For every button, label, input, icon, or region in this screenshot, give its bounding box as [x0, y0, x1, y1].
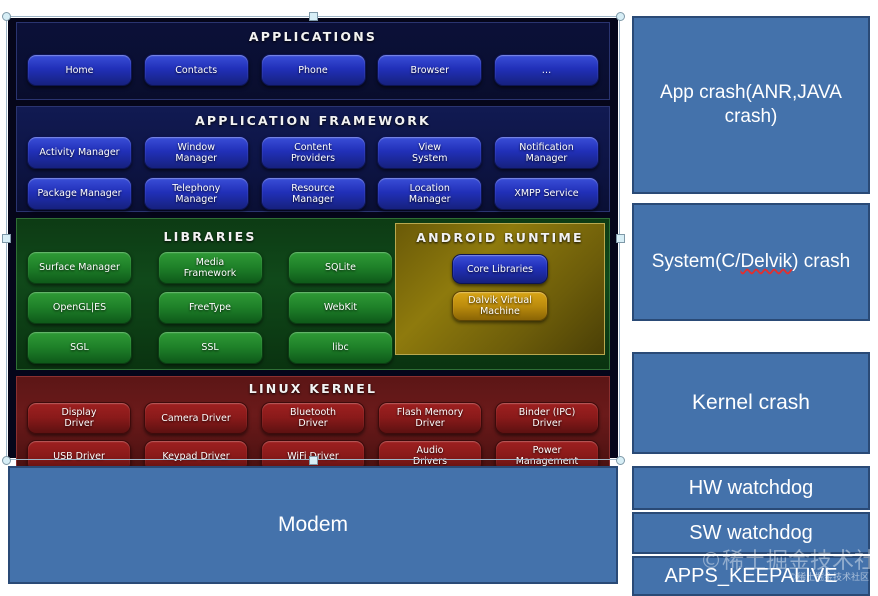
box-hw-watchdog-label: HW watchdog	[689, 476, 814, 501]
pill-surface-manager[interactable]: Surface Manager	[27, 251, 132, 284]
box-sw-watchdog-label: SW watchdog	[689, 521, 812, 546]
box-system-crash[interactable]: System(C/Delvik) crash	[632, 203, 870, 321]
modem-label: Modem	[278, 513, 348, 537]
box-hw-watchdog[interactable]: HW watchdog	[632, 466, 870, 510]
applications-row: Home Contacts Phone Browser …	[17, 54, 609, 86]
pill-sqlite[interactable]: SQLite	[288, 251, 393, 284]
pill-media-framework[interactable]: MediaFramework	[158, 251, 263, 284]
system-crash-misspelled-word: Delvik	[740, 251, 792, 272]
pill-more[interactable]: …	[494, 54, 599, 86]
layer-applications[interactable]: APPLICATIONS Home Contacts Phone Browser…	[16, 22, 610, 100]
system-crash-suffix: ) crash	[792, 251, 850, 272]
box-kernel-crash[interactable]: Kernel crash	[632, 352, 870, 454]
layer-libraries-title: LIBRARIES	[21, 229, 399, 244]
resize-handle-top-left[interactable]	[2, 12, 11, 21]
box-apps-keepalive[interactable]: APPS_KEEPALIVE	[632, 556, 870, 596]
libraries-row-2: OpenGL|ES FreeType WebKit	[21, 291, 399, 324]
runtime-pills: Core Libraries Dalvik VirtualMachine	[396, 254, 604, 321]
pill-home[interactable]: Home	[27, 54, 132, 86]
pill-freetype[interactable]: FreeType	[158, 291, 263, 324]
section-android-runtime[interactable]: ANDROID RUNTIME Core Libraries Dalvik Vi…	[395, 223, 605, 355]
pill-display-driver[interactable]: DisplayDriver	[27, 402, 131, 434]
pill-browser[interactable]: Browser	[377, 54, 482, 86]
pill-package-manager[interactable]: Package Manager	[27, 177, 132, 210]
box-kernel-crash-label: Kernel crash	[692, 390, 810, 416]
pill-core-libraries[interactable]: Core Libraries	[452, 254, 548, 284]
pill-view-system[interactable]: ViewSystem	[377, 136, 482, 169]
modem-box[interactable]: Modem	[8, 466, 618, 584]
pill-activity-manager[interactable]: Activity Manager	[27, 136, 132, 169]
resize-handle-bottom-right[interactable]	[616, 456, 625, 465]
slide-canvas: APPLICATIONS Home Contacts Phone Browser…	[0, 0, 878, 592]
layer-application-framework-title: APPLICATION FRAMEWORK	[17, 113, 609, 128]
libraries-row-3: SGL SSL libc	[21, 331, 399, 364]
layer-application-framework[interactable]: APPLICATION FRAMEWORK Activity Manager W…	[16, 106, 610, 212]
pill-binder-ipc-driver[interactable]: Binder (IPC)Driver	[495, 402, 599, 434]
pill-telephony-manager[interactable]: TelephonyManager	[144, 177, 249, 210]
resize-handle-top-center[interactable]	[309, 12, 318, 21]
pill-bluetooth-driver[interactable]: BluetoothDriver	[261, 402, 365, 434]
framework-row-1: Activity Manager WindowManager ContentPr…	[17, 136, 609, 169]
pill-xmpp-service[interactable]: XMPP Service	[494, 177, 599, 210]
pill-webkit[interactable]: WebKit	[288, 291, 393, 324]
pill-notification-manager[interactable]: NotificationManager	[494, 136, 599, 169]
pill-resource-manager[interactable]: ResourceManager	[261, 177, 366, 210]
pill-window-manager[interactable]: WindowManager	[144, 136, 249, 169]
layer-android-runtime-title: ANDROID RUNTIME	[396, 230, 604, 245]
system-crash-prefix: System(C/	[652, 251, 741, 272]
resize-handle-middle-left[interactable]	[2, 234, 11, 243]
layer-applications-title: APPLICATIONS	[17, 29, 609, 44]
kernel-row-1: DisplayDriver Camera Driver BluetoothDri…	[17, 402, 609, 434]
pill-phone[interactable]: Phone	[261, 54, 366, 86]
pill-camera-driver[interactable]: Camera Driver	[144, 402, 248, 434]
layer-libraries-and-runtime[interactable]: LIBRARIES Surface Manager MediaFramework…	[16, 218, 610, 370]
box-app-crash[interactable]: App crash(ANR,JAVA crash)	[632, 16, 870, 194]
section-libraries[interactable]: LIBRARIES Surface Manager MediaFramework…	[21, 223, 399, 365]
box-system-crash-label: System(C/Delvik) crash	[652, 250, 851, 274]
pill-opengl-es[interactable]: OpenGL|ES	[27, 291, 132, 324]
box-app-crash-label: App crash(ANR,JAVA crash)	[648, 81, 854, 129]
pill-contacts[interactable]: Contacts	[144, 54, 249, 86]
framework-row-2: Package Manager TelephonyManager Resourc…	[17, 177, 609, 210]
libraries-row-1: Surface Manager MediaFramework SQLite	[21, 251, 399, 284]
box-sw-watchdog[interactable]: SW watchdog	[632, 512, 870, 554]
pill-libc[interactable]: libc	[288, 331, 393, 364]
layer-linux-kernel-title: LINUX KERNEL	[17, 381, 609, 396]
pill-content-providers[interactable]: ContentProviders	[261, 136, 366, 169]
resize-handle-middle-right[interactable]	[616, 234, 625, 243]
resize-handle-bottom-left[interactable]	[2, 456, 11, 465]
resize-handle-top-right[interactable]	[616, 12, 625, 21]
box-apps-keepalive-label: APPS_KEEPALIVE	[664, 564, 837, 589]
android-architecture-diagram[interactable]: APPLICATIONS Home Contacts Phone Browser…	[8, 18, 618, 458]
pill-location-manager[interactable]: LocationManager	[377, 177, 482, 210]
pill-flash-memory-driver[interactable]: Flash MemoryDriver	[378, 402, 482, 434]
pill-sgl[interactable]: SGL	[27, 331, 132, 364]
pill-ssl[interactable]: SSL	[158, 331, 263, 364]
resize-handle-bottom-center[interactable]	[309, 456, 318, 465]
pill-dalvik-virtual-machine[interactable]: Dalvik VirtualMachine	[452, 291, 548, 321]
